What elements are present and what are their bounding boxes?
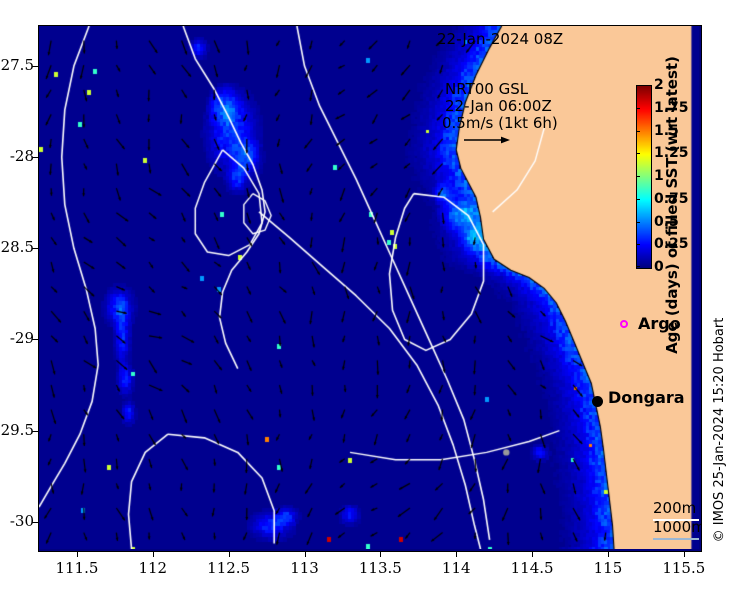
colorbar-tick-label: 1.5 [654, 123, 679, 139]
colorbar-tick [636, 222, 640, 223]
velocity-vector-overlay [39, 26, 699, 549]
y-axis-tick-label: -28.5 [0, 238, 34, 256]
figure-canvas: 22-Jan-2024 08Z NRT00 GSL 22-Jan 06:00Z … [0, 0, 740, 592]
x-axis-tick-label: 115 [568, 559, 648, 577]
map-plot-area[interactable]: 22-Jan-2024 08Z NRT00 GSL 22-Jan 06:00Z … [38, 25, 702, 552]
colorbar-tick [636, 108, 640, 109]
colorbar-tick-label: 0.25 [654, 236, 689, 252]
copyright-credit: © IMOS 25-Jan-2024 15:20 Hobart [712, 290, 727, 570]
x-axis-tick [77, 551, 78, 557]
dongara-town-label: Dongara [608, 388, 685, 407]
colorbar-tick [636, 153, 640, 154]
x-axis-tick [684, 551, 685, 557]
velocity-scale-arrow-icon [463, 134, 511, 146]
colorbar-tick [636, 199, 640, 200]
x-axis-tick-label: 111.5 [37, 559, 117, 577]
model-name-label: NRT00 GSL [445, 80, 528, 98]
date-stamp-label: 22-Jan-2024 08Z [437, 30, 563, 48]
y-axis-tick-label: -27.5 [0, 56, 34, 74]
colorbar-tick-label: 0.5 [654, 214, 679, 230]
y-axis-tick-label: -30 [10, 512, 34, 530]
x-axis-tick-label: 112 [113, 559, 193, 577]
x-axis-tick [456, 551, 457, 557]
x-axis-tick-label: 114.5 [492, 559, 572, 577]
depth-200m-label: 200m [653, 499, 696, 517]
colorbar-tick [636, 244, 640, 245]
colorbar-tick [636, 266, 640, 267]
dongara-town-marker-icon [592, 396, 603, 407]
x-axis-tick-label: 112.5 [189, 559, 269, 577]
colorbar-tick [636, 131, 640, 132]
depth-1000m-label: 1000m [653, 518, 702, 536]
depth-1000m-line-sample [653, 538, 699, 540]
x-axis-tick-label: 115.5 [644, 559, 724, 577]
colorbar-ticks [636, 85, 650, 267]
y-axis-tick-label: -29 [10, 329, 34, 347]
colorbar-tick-label: 1.25 [654, 145, 689, 161]
colorbar-tick-label: 2 [654, 77, 664, 93]
x-axis-tick [153, 551, 154, 557]
x-axis-tick [380, 551, 381, 557]
x-axis-tick [608, 551, 609, 557]
y-axis-tick-label: -28 [10, 147, 34, 165]
colorbar-tick [636, 176, 640, 177]
argo-legend-marker-icon [620, 320, 628, 328]
colorbar-tick-label: 0 [654, 259, 664, 275]
model-time-label: 22-Jan 06:00Z [445, 97, 552, 115]
x-axis-tick [532, 551, 533, 557]
x-axis-tick-label: 113 [265, 559, 345, 577]
y-axis-tick-label: -29.5 [0, 421, 34, 439]
x-axis-tick [305, 551, 306, 557]
colorbar-tick [636, 85, 640, 86]
velocity-scale-label: 0.5m/s (1kt 6h) [442, 114, 558, 132]
colorbar-tick-label: 1.75 [654, 100, 689, 116]
x-axis-tick-label: 114 [416, 559, 496, 577]
x-axis-tick [229, 551, 230, 557]
colorbar-tick-label: 0.75 [654, 191, 689, 207]
x-axis-tick-label: 113.5 [340, 559, 420, 577]
colorbar-tick-label: 1 [654, 168, 664, 184]
